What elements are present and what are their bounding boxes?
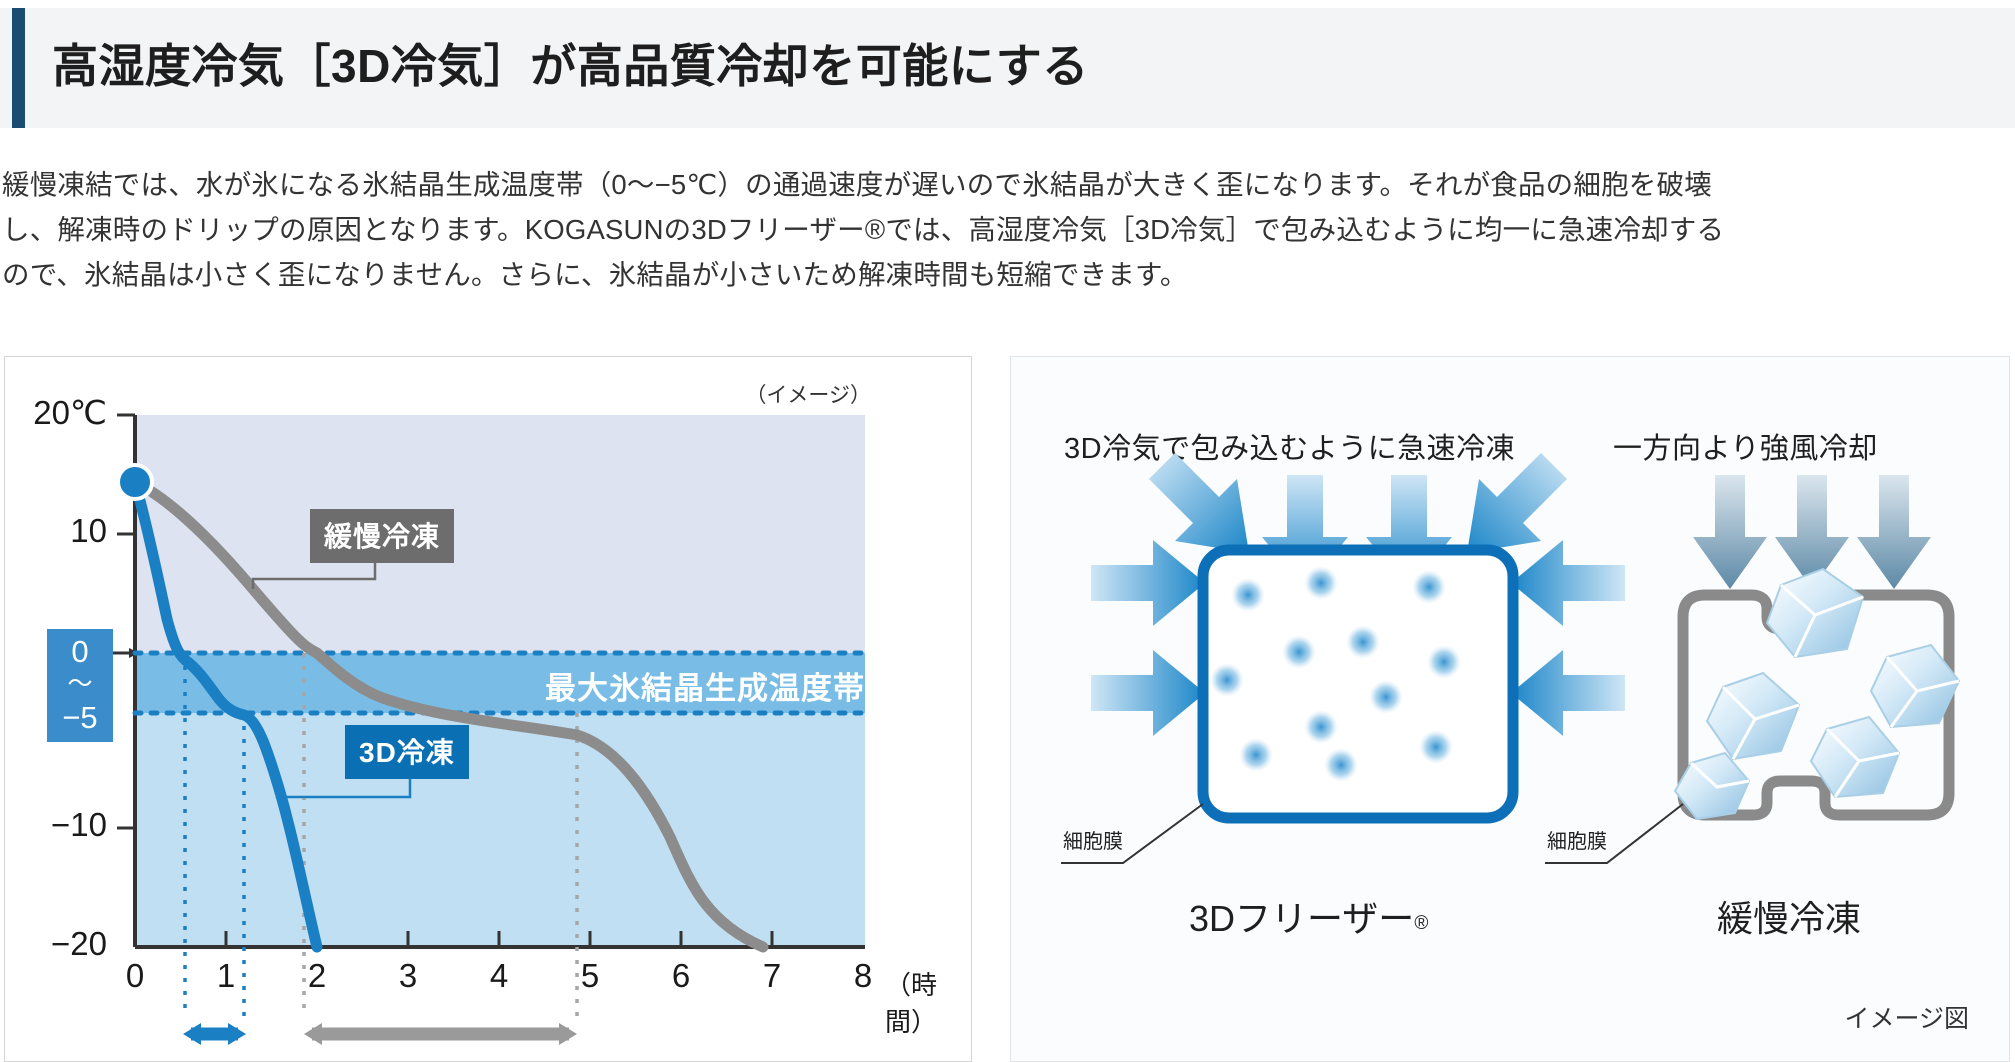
- y-tick-label-10: 10: [4, 512, 107, 550]
- arrow-right-left-panel-1: [1091, 540, 1205, 626]
- arrow-diagonal-top-right: [1467, 453, 1567, 553]
- x-tick-label-1: 1: [201, 957, 251, 995]
- y-tick-label-20: 20℃: [4, 393, 107, 432]
- ice-crystal-band-badge: 0 〜 −5: [47, 629, 113, 742]
- arrow-diagonal-top-left: [1149, 453, 1249, 553]
- y-tick-label-minus10: −10: [4, 806, 107, 844]
- interval-blue-arrow: [183, 1023, 246, 1045]
- illustration-image-note: イメージ図: [1844, 999, 1969, 1035]
- legend-tag-slow-freeze: 緩慢冷凍: [310, 509, 454, 563]
- y-tick-label-minus20: −20: [4, 925, 107, 963]
- band-badge-top: 0: [71, 634, 88, 669]
- intro-line-2: し、解凍時のドリップの原因となります。KOGASUNの3Dフリーザー®では、高湿…: [2, 207, 2010, 252]
- caption-text-3d: 3Dフリーザー: [1189, 898, 1414, 939]
- start-point-marker: [118, 465, 152, 499]
- heading-accent-bar: [12, 8, 25, 128]
- x-tick-label-3: 3: [383, 957, 433, 995]
- x-tick-label-0: 0: [110, 957, 160, 995]
- intro-paragraph: 緩慢凍結では、水が氷になる氷結晶生成温度帯（0〜−5℃）の通過速度が遅いので氷結…: [2, 162, 2010, 297]
- intro-line-1: 緩慢凍結では、水が氷になる氷結晶生成温度帯（0〜−5℃）の通過速度が遅いので氷結…: [2, 162, 2010, 207]
- illustration-canvas: [1011, 357, 2010, 1062]
- x-tick-label-7: 7: [747, 957, 797, 995]
- page-title: 高湿度冷気［3D冷気］が高品質冷却を可能にする: [52, 30, 1089, 96]
- cell-membrane-label-3d: 細胞膜: [1063, 825, 1123, 854]
- illustration-left-caption: 3Dフリーザー®: [1189, 890, 1428, 942]
- x-tick-label-4: 4: [474, 957, 524, 995]
- band-badge-bottom: −5: [62, 700, 97, 735]
- registered-mark-icon: ®: [1414, 913, 1428, 934]
- x-tick-label-5: 5: [565, 957, 615, 995]
- illustration-right-caption: 緩慢冷凍: [1717, 890, 1861, 942]
- ice-crystal-large-1: [1767, 569, 1863, 657]
- freezing-curve-chart: （イメージ）: [4, 356, 972, 1062]
- intro-line-3: ので、氷結晶は小さく歪になりません。さらに、氷結晶が小さいため解凍時間も短縮でき…: [2, 252, 2010, 297]
- legend-tag-3d-freeze: 3D冷凍: [345, 725, 469, 779]
- arrow-left-left-panel-2: [1511, 650, 1625, 736]
- x-tick-label-2: 2: [292, 957, 342, 995]
- arrow-left-left-panel-1: [1511, 540, 1625, 626]
- cell-membrane-label-slow: 細胞膜: [1547, 825, 1607, 854]
- band-badge-tilde: 〜: [47, 668, 113, 701]
- arrow-down-right-1: [1693, 475, 1767, 589]
- x-axis-unit-label: （時間）: [885, 965, 971, 1039]
- interval-gray-arrow: [304, 1023, 577, 1045]
- arrow-down-right-2: [1775, 475, 1849, 589]
- x-tick-label-8: 8: [838, 957, 888, 995]
- arrow-right-left-panel-2: [1091, 650, 1205, 736]
- x-tick-label-6: 6: [656, 957, 706, 995]
- ice-crystal-band-label: 最大氷結晶生成温度帯: [545, 663, 865, 708]
- arrow-down-right-3: [1857, 475, 1931, 589]
- freezing-illustration-panel: 3D冷気で包み込むように急速冷凍 一方向より強風冷却: [1010, 356, 2010, 1062]
- plot-band-above-zero: [135, 415, 865, 653]
- ice-crystal-large-3: [1707, 673, 1799, 759]
